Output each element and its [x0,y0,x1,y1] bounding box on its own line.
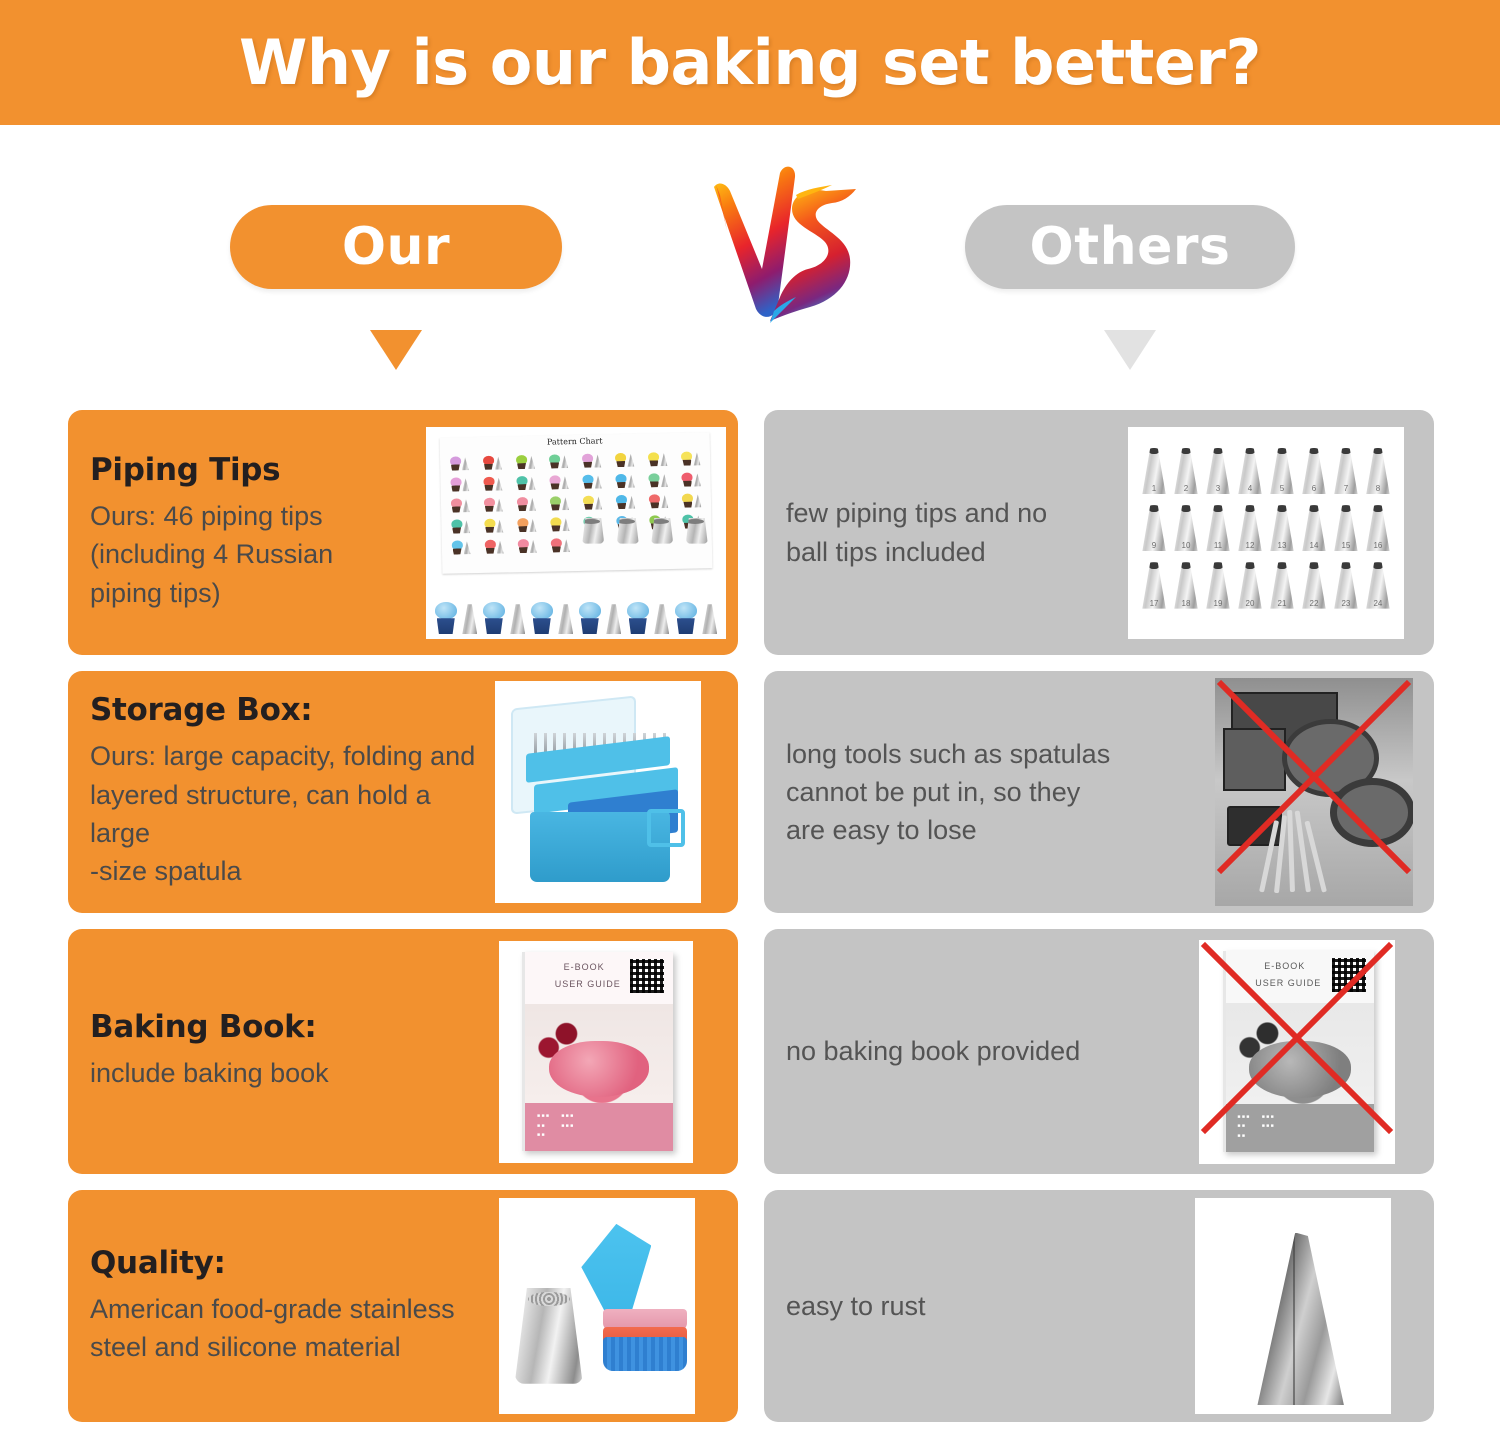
ebook-title: E-BOOK [1264,961,1305,971]
tip-number: 11 [1214,541,1222,550]
pattern-chart: Pattern Chart [440,432,713,573]
tip-number: 4 [1248,484,1252,493]
ours-card-storage-box: Storage Box: Ours: large capacity, foldi… [68,671,738,913]
comparison-row-storage-box: Storage Box: Ours: large capacity, foldi… [0,671,1500,913]
others-ebook-image: E-BOOK USER GUIDE ■ ■ ■■ ■■ ■ ■ ■ ■■ ■ ■ [1199,940,1395,1164]
others-messy-tools-image [1215,678,1413,906]
others-card-text: easy to rust [764,1287,1195,1325]
tip-number: 7 [1344,484,1348,493]
ebook-subtitle: USER GUIDE [1255,978,1321,988]
tip-number: 18 [1182,599,1191,608]
tip-number: 22 [1310,599,1319,608]
body-line: ball tips included [786,533,1114,571]
ours-card-piping-tips: Piping Tips Ours: 46 piping tips (includ… [68,410,738,655]
others-card-text: few piping tips and no ball tips include… [764,494,1128,571]
comparison-row-quality: Quality: American food-grade stainless s… [0,1190,1500,1422]
tip-number: 12 [1246,541,1255,550]
body-line: are easy to lose [786,811,1201,849]
others-arrow-down-icon [1104,330,1156,370]
others-card-body: few piping tips and no ball tips include… [786,494,1114,571]
page-title: Why is our baking set better? [239,26,1261,99]
messy-kitchen-photo [1215,678,1413,906]
others-card-body: no baking book provided [786,1032,1185,1070]
tip-number: 6 [1312,484,1316,493]
ours-card-heading: Quality: [90,1246,485,1280]
tip-number: 15 [1341,541,1350,550]
ebook-title: E-BOOK [564,962,605,972]
others-column-pill: Others [965,205,1295,289]
ours-card-baking-book: Baking Book: include baking book E-BOOK … [68,929,738,1174]
ours-column-pill: Our [230,205,562,289]
tip-number: 13 [1278,541,1287,550]
storage-box-illustration [503,694,693,889]
tip-number: 23 [1341,599,1350,608]
tip-number: 3 [1216,484,1220,493]
ours-card-quality: Quality: American food-grade stainless s… [68,1190,738,1422]
body-line: American food-grade stainless [90,1290,485,1328]
others-rusted-tip-image [1195,1198,1391,1414]
others-card-text: long tools such as spatulas cannot be pu… [764,735,1215,850]
body-line: layered structure, can hold a large [90,776,481,853]
comparison-row-baking-book: Baking Book: include baking book E-BOOK … [0,929,1500,1174]
qr-code-icon [1332,958,1366,992]
ours-card-text: Storage Box: Ours: large capacity, foldi… [68,693,495,890]
body-line: cannot be put in, so they [786,773,1201,811]
ours-pattern-chart-image: Pattern Chart [426,427,726,639]
ebook-subtitle: USER GUIDE [555,979,621,989]
others-column-label: Others [1030,217,1231,277]
qr-code-icon [630,959,664,993]
ebook-cover: E-BOOK USER GUIDE ■ ■ ■■ ■■ ■ ■ ■ ■■ ■ ■ [522,952,672,1152]
ours-card-body: include baking book [90,1054,485,1092]
vs-icon [700,165,870,330]
tip-number: 14 [1310,541,1319,550]
body-line: -size spatula [90,852,481,890]
tip-number: 16 [1373,541,1382,550]
blue-cupcakes-row [432,571,720,635]
others-card-baking-book: no baking book provided E-BOOK USER GUID… [764,929,1434,1174]
ours-card-text: Piping Tips Ours: 46 piping tips (includ… [68,453,426,612]
body-line: Ours: 46 piping tips [90,497,412,535]
ours-card-heading: Piping Tips [90,453,412,487]
ours-card-body: Ours: 46 piping tips (including 4 Russia… [90,497,412,612]
others-card-body: easy to rust [786,1287,1181,1325]
others-card-storage-box: long tools such as spatulas cannot be pu… [764,671,1434,913]
header-banner: Why is our baking set better? [0,0,1500,125]
ours-arrow-down-icon [370,330,422,370]
tip-number: 17 [1150,599,1159,608]
tip-number: 2 [1184,484,1188,493]
body-line: few piping tips and no [786,494,1114,532]
body-line: no baking book provided [786,1032,1185,1070]
numbered-tips-grid: 1 2 3 4 5 6 7 8 9 10 11 12 13 14 [1139,443,1393,613]
others-card-quality: easy to rust [764,1190,1434,1422]
tip-number: 5 [1280,484,1284,493]
comparison-row-piping-tips: Piping Tips Ours: 46 piping tips (includ… [0,410,1500,655]
body-line: long tools such as spatulas [786,735,1201,773]
comparison-grid: Piping Tips Ours: 46 piping tips (includ… [0,410,1500,1438]
ours-card-text: Quality: American food-grade stainless s… [68,1246,499,1367]
body-line: easy to rust [786,1287,1181,1325]
body-line: Ours: large capacity, folding and [90,737,481,775]
body-line: (including 4 Russian piping tips) [90,535,412,612]
tip-number: 8 [1376,484,1380,493]
ours-card-heading: Baking Book: [90,1010,485,1044]
others-piping-tips-image: 1 2 3 4 5 6 7 8 9 10 11 12 13 14 [1128,427,1404,639]
body-line: steel and silicone material [90,1328,485,1366]
others-card-body: long tools such as spatulas cannot be pu… [786,735,1201,850]
tip-number: 20 [1246,599,1255,608]
russian-piping-tip [515,1288,583,1384]
ours-ebook-image: E-BOOK USER GUIDE ■ ■ ■■ ■■ ■ ■ ■ ■■ ■ ■ [499,941,693,1163]
ours-card-heading: Storage Box: [90,693,481,727]
tip-number: 21 [1278,599,1287,608]
russian-tips-row [576,518,714,544]
ours-card-text: Baking Book: include baking book [68,1010,499,1092]
ours-storage-box-image [495,681,701,903]
tip-number: 9 [1152,541,1156,550]
rusted-piping-tip [1254,1233,1344,1406]
tip-number: 19 [1214,599,1223,608]
silicone-cupcake-liners [603,1309,687,1371]
ours-card-body: Ours: large capacity, folding and layere… [90,737,481,890]
tip-number: 10 [1182,541,1191,550]
ours-quality-image [499,1198,695,1414]
ours-column-label: Our [342,217,450,277]
ours-card-body: American food-grade stainless steel and … [90,1290,485,1367]
others-card-piping-tips: few piping tips and no ball tips include… [764,410,1434,655]
tip-number: 1 [1152,484,1156,493]
others-card-text: no baking book provided [764,1032,1199,1070]
body-line: include baking book [90,1054,485,1092]
tip-number: 24 [1373,599,1382,608]
column-headers: Our [0,125,1500,410]
ebook-cover-grayscale: E-BOOK USER GUIDE ■ ■ ■■ ■■ ■ ■ ■ ■■ ■ ■ [1223,951,1375,1153]
